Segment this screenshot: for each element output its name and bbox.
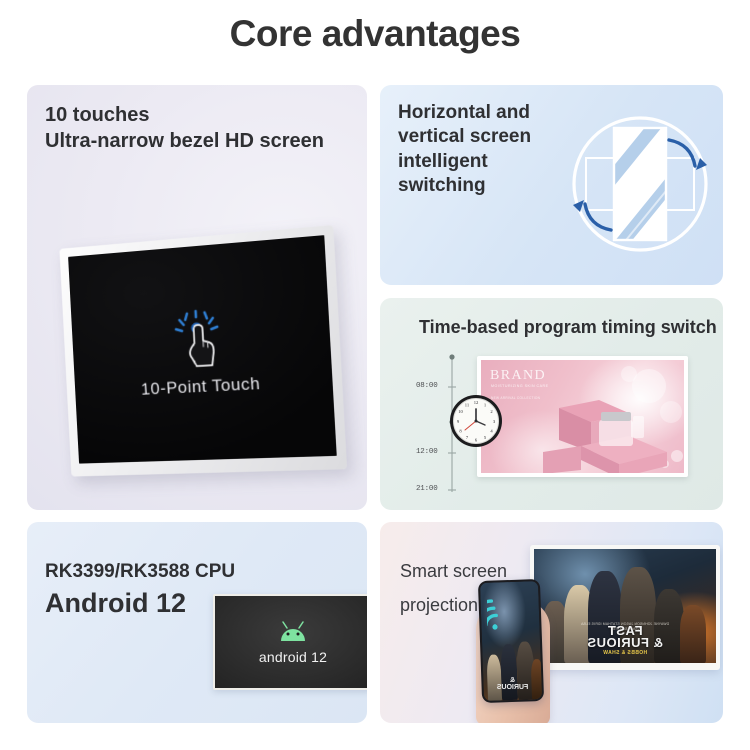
android-robot-icon xyxy=(276,620,310,642)
svg-text:11: 11 xyxy=(465,403,470,408)
cast-tv: DWAYNE JOHNSON JASON STATHAM IDRIS ELBA … xyxy=(530,545,720,670)
wifi-cast-icon xyxy=(487,592,533,632)
analog-clock: 1212 345 678 91011 xyxy=(449,394,503,448)
android-version-label: android 12 xyxy=(259,649,327,665)
android-display-panel: android 12 xyxy=(213,594,367,690)
svg-text:10: 10 xyxy=(458,409,463,414)
screen-rotation-icon xyxy=(565,96,715,276)
touch-gesture-icon xyxy=(168,307,226,372)
poster-artwork: BRAND MOISTURIZING SKIN CARE NEW ARRIVAL… xyxy=(481,360,684,473)
touch-card-heading: 10 touchesUltra-narrow bezel HD screen xyxy=(45,103,324,154)
touch-heading-line1: 10 touches xyxy=(45,104,149,126)
timing-card-heading: Time-based program timing switch xyxy=(419,316,717,339)
time-tick-1200: 12:00 xyxy=(416,448,438,456)
poster-product-art xyxy=(481,360,684,473)
touch-screen-card: 10 touchesUltra-narrow bezel HD screen xyxy=(27,85,367,510)
screen-rotation-card: Horizontal and vertical screen intellige… xyxy=(380,85,723,285)
cosmetics-ad-poster: BRAND MOISTURIZING SKIN CARE NEW ARRIVAL… xyxy=(477,356,688,477)
cpu-heading: RK3399/RK3588 CPU xyxy=(45,560,235,584)
screen-projection-card: Smart screen projection DWAYNE JOHNSON J… xyxy=(380,522,723,723)
monitor-screen: 10-Point Touch xyxy=(68,235,337,464)
svg-text:12: 12 xyxy=(474,400,479,405)
page-title: Core advantages xyxy=(0,13,750,55)
touch-monitor: 10-Point Touch xyxy=(59,225,347,477)
time-tick-2100: 21:00 xyxy=(416,485,438,493)
touch-screen-label: 10-Point Touch xyxy=(141,374,261,400)
movie-subtitle: HOBBS & SHAW xyxy=(603,650,647,656)
movie-poster: DWAYNE JOHNSON JASON STATHAM IDRIS ELBA … xyxy=(534,549,716,663)
movie-title-line2: & FURIOUS xyxy=(587,635,663,650)
android-cpu-card: RK3399/RK3588 CPU Android 12 android 12 xyxy=(27,522,367,723)
android-display-screen: android 12 xyxy=(215,596,367,688)
program-timing-card: Time-based program timing switch 08:00 1… xyxy=(380,298,723,510)
movie-title: FAST& FURIOUS xyxy=(587,625,663,649)
touch-heading-line2: Ultra-narrow bezel HD screen xyxy=(45,130,324,152)
android-heading: Android 12 xyxy=(45,586,186,621)
core-advantages-page: Core advantages 10 touchesUltra-narrow b… xyxy=(0,0,750,750)
rotation-card-heading: Horizontal and vertical screen intellige… xyxy=(398,101,531,198)
time-tick-0800: 08:00 xyxy=(416,382,438,390)
phone-movie-title: & FURIOUS xyxy=(497,678,528,691)
